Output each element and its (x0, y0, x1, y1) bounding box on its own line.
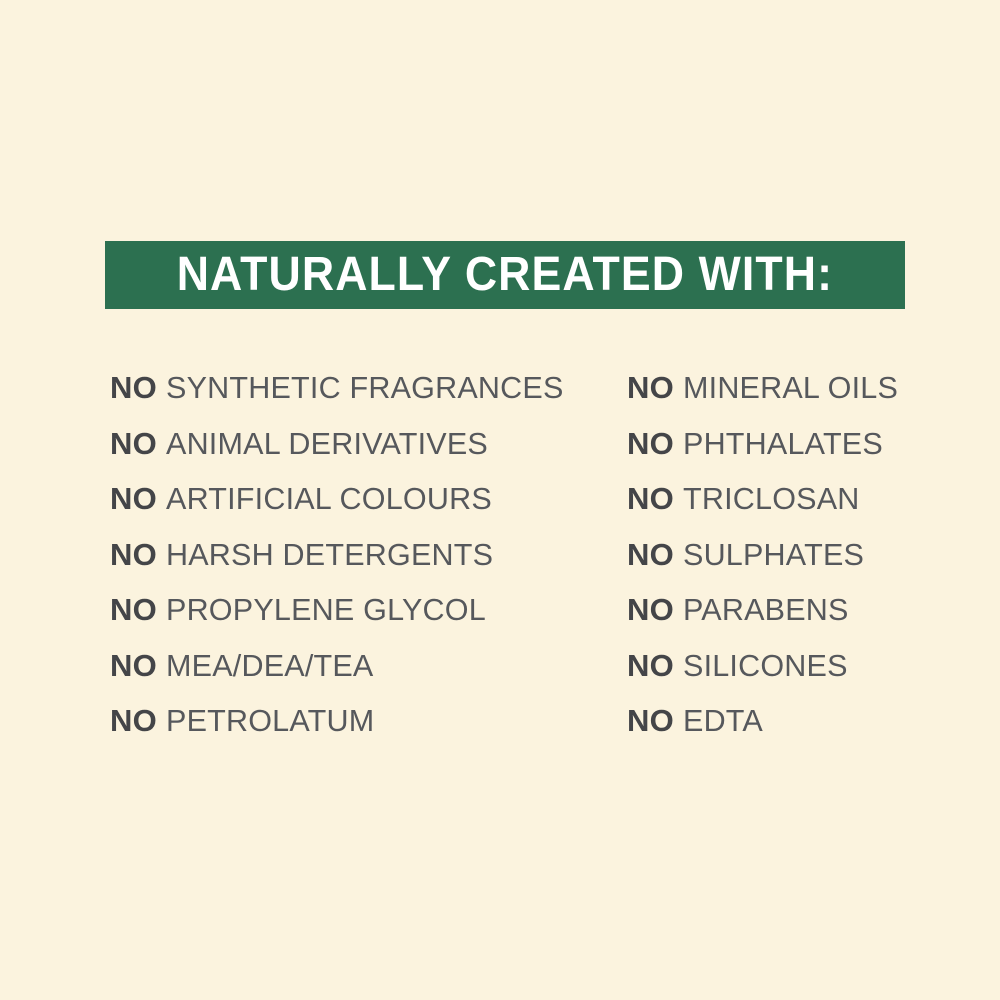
claim-label: MEA/DEA/TEA (166, 647, 373, 685)
claim-prefix: NO (627, 591, 674, 629)
claim-label: SULPHATES (683, 536, 864, 574)
poster-canvas: NATURALLY CREATED WITH: NO SYNTHETIC FRA… (0, 0, 1000, 1000)
claim-label: HARSH DETERGENTS (166, 536, 493, 574)
claim-prefix: NO (627, 702, 674, 740)
list-item: NO PETROLATUM (110, 702, 570, 758)
claim-label: MINERAL OILS (683, 369, 898, 407)
list-item: NO MEA/DEA/TEA (110, 647, 570, 703)
claim-prefix: NO (110, 425, 157, 463)
list-item: NO SYNTHETIC FRAGRANCES (110, 369, 570, 425)
claim-label: SILICONES (683, 647, 848, 685)
claim-prefix: NO (627, 425, 674, 463)
claim-label: ANIMAL DERIVATIVES (166, 425, 488, 463)
claim-label: SYNTHETIC FRAGRANCES (166, 369, 564, 407)
claims-column-left: NO SYNTHETIC FRAGRANCES NO ANIMAL DERIVA… (110, 369, 570, 758)
claim-label: PARABENS (683, 591, 849, 629)
claim-label: TRICLOSAN (683, 480, 860, 518)
list-item: NO EDTA (627, 702, 901, 758)
claim-prefix: NO (627, 647, 674, 685)
claim-prefix: NO (627, 480, 674, 518)
list-item: NO PARABENS (627, 591, 901, 647)
list-item: NO ARTIFICIAL COLOURS (110, 480, 570, 536)
claims-list: NO SYNTHETIC FRAGRANCES NO ANIMAL DERIVA… (0, 0, 1000, 1000)
list-item: NO TRICLOSAN (627, 480, 901, 536)
claim-prefix: NO (627, 369, 674, 407)
claim-prefix: NO (110, 480, 157, 518)
claim-label: EDTA (683, 702, 763, 740)
claim-label: PETROLATUM (166, 702, 374, 740)
claim-prefix: NO (110, 591, 157, 629)
list-item: NO PHTHALATES (627, 425, 901, 481)
list-item: NO SILICONES (627, 647, 901, 703)
list-item: NO HARSH DETERGENTS (110, 536, 570, 592)
claim-label: PHTHALATES (683, 425, 883, 463)
claim-prefix: NO (110, 536, 157, 574)
claim-label: ARTIFICIAL COLOURS (166, 480, 492, 518)
list-item: NO MINERAL OILS (627, 369, 901, 425)
claim-label: PROPYLENE GLYCOL (166, 591, 486, 629)
list-item: NO SULPHATES (627, 536, 901, 592)
claim-prefix: NO (110, 369, 157, 407)
list-item: NO ANIMAL DERIVATIVES (110, 425, 570, 481)
claim-prefix: NO (110, 647, 157, 685)
claims-column-right: NO MINERAL OILS NO PHTHALATES NO TRICLOS… (627, 369, 901, 758)
claim-prefix: NO (110, 702, 157, 740)
claim-prefix: NO (627, 536, 674, 574)
list-item: NO PROPYLENE GLYCOL (110, 591, 570, 647)
